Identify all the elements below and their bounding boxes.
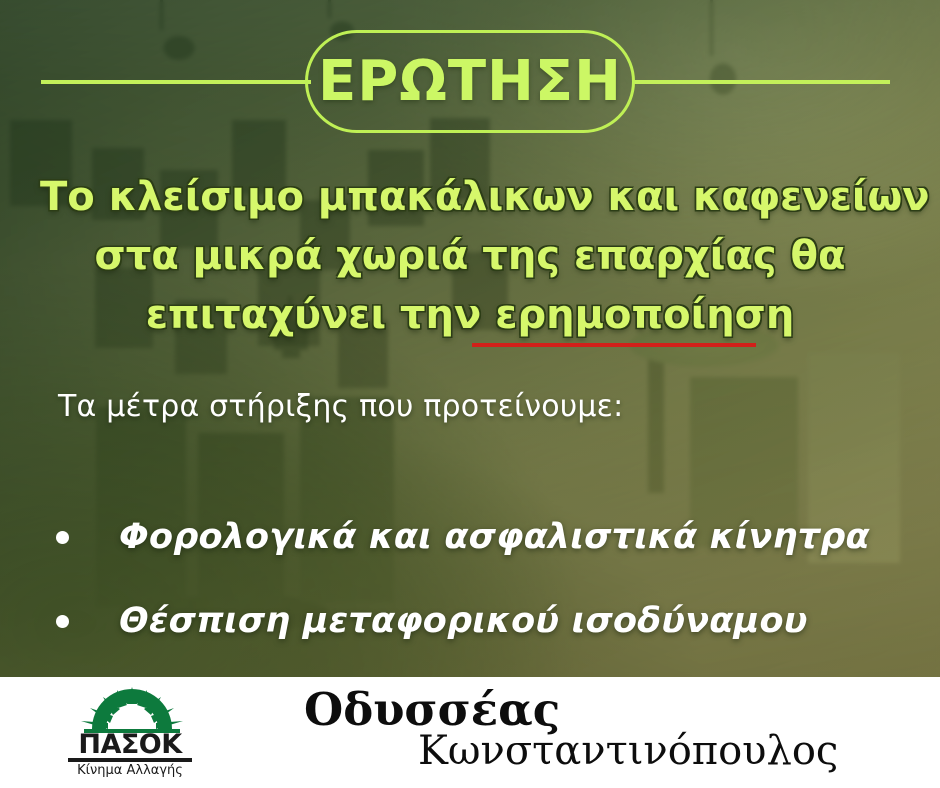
lead-text: Τα μέτρα στήριξης που προτείνουμε:	[58, 389, 623, 424]
headline-line-1: Το κλείσιμο μπακάλικων και καφενείων	[40, 168, 900, 227]
headline: Το κλείσιμο μπακάλικων και καφενείων στα…	[40, 168, 900, 345]
poster-canvas: ΕΡΩΤΗΣΗ Το κλείσιμο μπακάλικων και καφεν…	[0, 0, 940, 788]
pasok-logo: ΠΑΣΟΚ Κίνημα Αλλαγής	[62, 687, 198, 779]
headline-line-3: επιταχύνει την ερημοποίηση	[40, 286, 900, 345]
question-badge-label: ΕΡΩΤΗΣΗ	[318, 54, 622, 110]
bullet-dot-icon	[56, 531, 69, 544]
hero-photo-area: ΕΡΩΤΗΣΗ Το κλείσιμο μπακάλικων και καφεν…	[0, 0, 940, 677]
measures-list: Φορολογικά και ασφαλιστικά κίνητρα Θέσπι…	[56, 495, 896, 663]
headline-red-underline	[472, 343, 756, 347]
footer-bar: ΠΑΣΟΚ Κίνημα Αλλαγής Οδυσσέας Κωνσταντιν…	[0, 677, 940, 788]
question-badge: ΕΡΩΤΗΣΗ	[305, 30, 635, 133]
bullet-dot-icon	[56, 615, 69, 628]
list-item-label: Φορολογικά και ασφαλιστικά κίνητρα	[119, 517, 870, 557]
list-item: Φορολογικά και ασφαλιστικά κίνητρα	[56, 495, 896, 579]
list-item: Θέσπιση μεταφορικού ισοδύναμου	[56, 579, 896, 663]
header-rule-left	[41, 80, 311, 84]
headline-line-2: στα μικρά χωριά της επαρχίας θα	[40, 227, 900, 286]
person-name-block: Οδυσσέας Κωνσταντινόπουλος	[300, 685, 860, 783]
pasok-subtitle: Κίνημα Αλλαγής	[62, 764, 198, 777]
list-item-label: Θέσπιση μεταφορικού ισοδύναμου	[119, 601, 808, 641]
header-rule-right	[632, 80, 890, 84]
pasok-underline-bar	[68, 758, 192, 762]
person-last-name: Κωνσταντινόπουλος	[418, 729, 838, 773]
pasok-wordmark: ΠΑΣΟΚ	[62, 731, 198, 758]
pasok-sun-icon	[80, 687, 184, 733]
